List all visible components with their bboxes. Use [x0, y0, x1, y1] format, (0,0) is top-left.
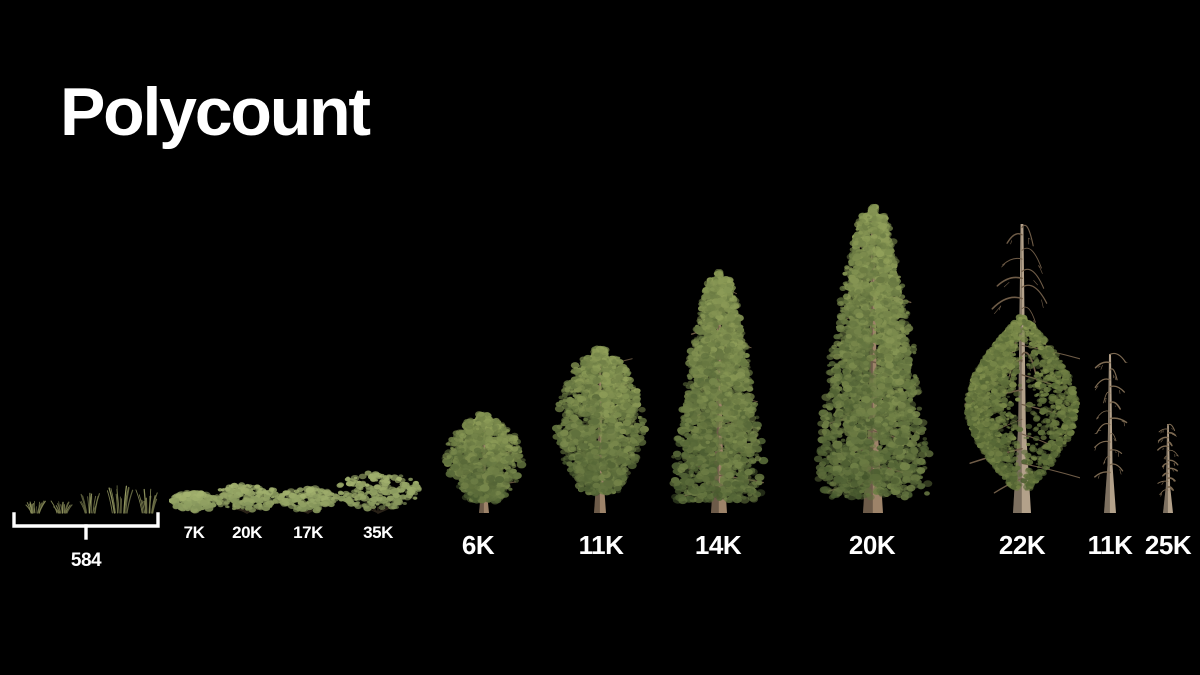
tree-25k-label: 25K: [1145, 530, 1191, 561]
page-title: Polycount: [60, 78, 369, 146]
tree-11k-a: [550, 345, 650, 521]
shrub-2-label: 20K: [232, 523, 262, 543]
tree-6k: [439, 411, 529, 521]
scene-canvas: Polycount 5847K20K17K35K6K11K14K20K22K11…: [0, 0, 1200, 675]
shrub-1-label: 7K: [184, 523, 205, 543]
tree-20k: [807, 203, 939, 521]
tree-14k: [663, 269, 775, 521]
tree-6k-label: 6K: [462, 530, 494, 561]
tree-22k: [964, 221, 1080, 521]
tree-11k-b: [1080, 351, 1140, 521]
tree-22k-label: 22K: [999, 530, 1045, 561]
tree-14k-label: 14K: [695, 530, 741, 561]
shrub-4-label: 35K: [363, 523, 393, 543]
tree-11k-b-label: 11K: [1088, 530, 1133, 561]
tree-25k: [1145, 421, 1191, 521]
shrub-4: [331, 469, 425, 519]
grass-count-bracket: [12, 512, 160, 547]
grass-polycount-label: 584: [71, 550, 101, 572]
shrub-3-label: 17K: [293, 523, 323, 543]
shrub-2: [211, 481, 283, 519]
tree-11k-a-label: 11K: [579, 530, 624, 561]
bracket-icon: [12, 512, 160, 542]
tree-20k-label: 20K: [849, 530, 895, 561]
